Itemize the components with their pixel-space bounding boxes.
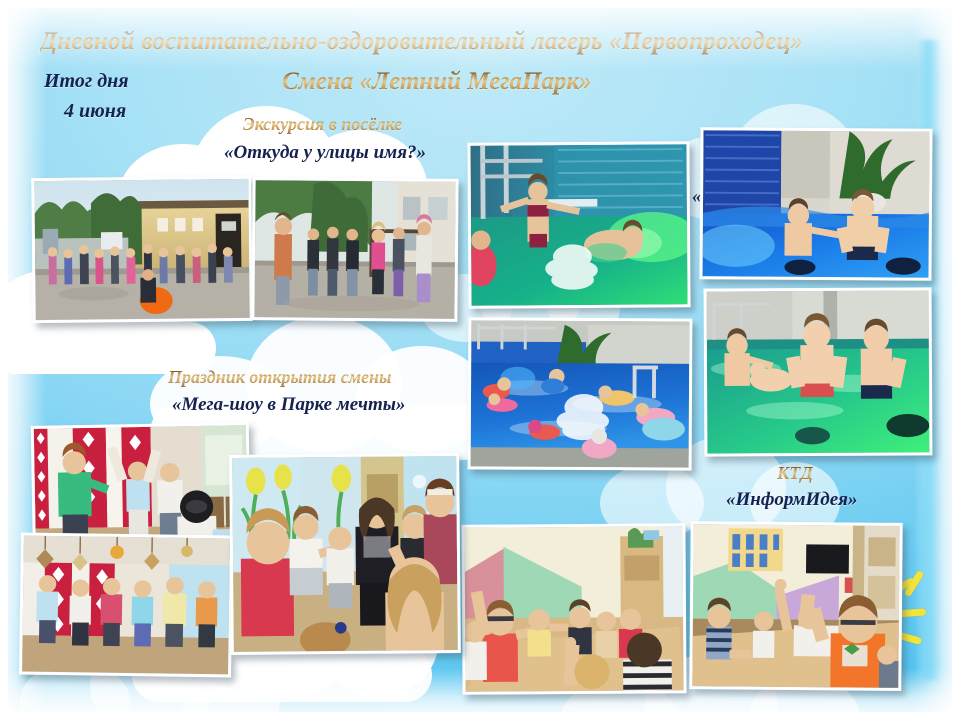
photo-image <box>464 526 683 692</box>
photo-image <box>470 144 687 306</box>
photo-image <box>232 456 458 652</box>
photo-ktd-classroom-right <box>689 521 902 691</box>
photo-pool-blue-two-boys <box>699 127 932 281</box>
poster-slide: « <box>0 0 960 720</box>
photo-image <box>471 320 690 467</box>
photo-image <box>707 290 930 453</box>
section-heading-opening: Праздник открытия смены <box>168 367 392 388</box>
photo-image <box>702 130 929 278</box>
page-title: Дневной воспитательно-оздоровительный ла… <box>40 28 803 56</box>
section-heading-excursion: Экскурсия в посёлке <box>243 114 402 135</box>
photo-image <box>692 524 899 688</box>
section-subheading-excursion: «Откуда у улицы имя?» <box>224 142 426 164</box>
photo-pool-green-splash <box>467 141 690 309</box>
section-subheading-ktd: «ИнформИдея» <box>726 489 857 511</box>
photo-image <box>34 179 249 320</box>
section-subheading-opening: «Мега-шоу в Парке мечты» <box>172 394 405 416</box>
photo-pool-wide <box>468 317 693 470</box>
photo-image <box>254 180 455 319</box>
section-heading-ktd: КТД <box>777 463 813 484</box>
photo-opening-decor <box>19 533 233 678</box>
day-summary-date: 4 июня <box>64 100 126 123</box>
photo-excursion-group <box>31 176 253 323</box>
photo-image <box>22 536 230 675</box>
photo-ktd-classroom-left <box>461 523 686 695</box>
page-subtitle: Смена «Летний МегаПарк» <box>282 68 592 96</box>
photo-excursion-walk <box>251 177 458 322</box>
photo-pool-green-boys <box>704 287 933 456</box>
photo-opening-group <box>229 453 461 655</box>
day-summary-label: Итог дня <box>44 70 129 93</box>
